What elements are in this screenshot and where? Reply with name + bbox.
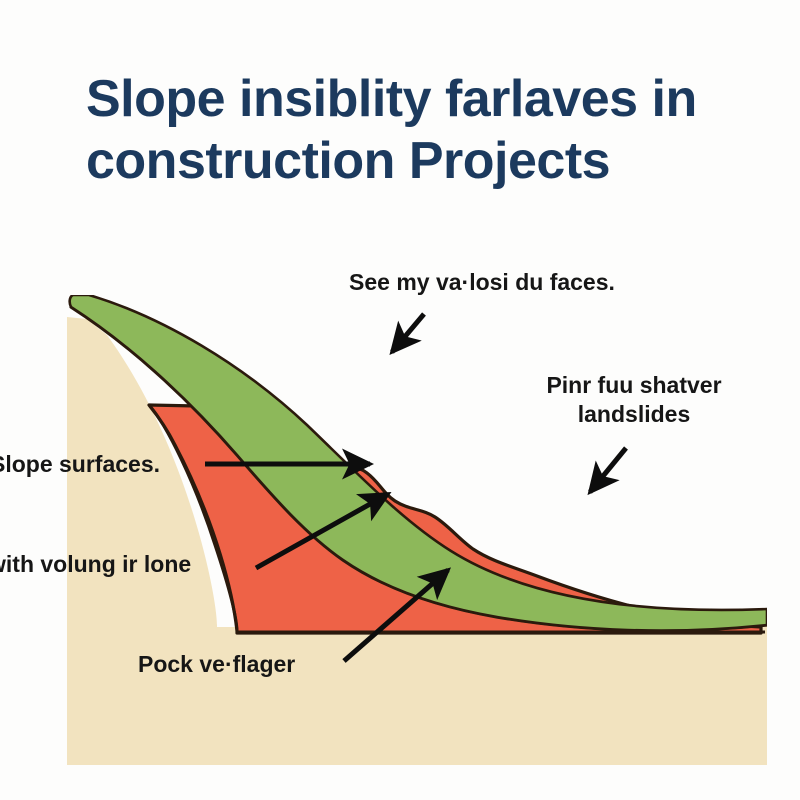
annotation-slope-surfaces-label: Slope surfaces. [0,450,160,479]
annotation-volume-zone-label: with volung ir lone [0,550,191,579]
annotation-rock-layer-label: Pock ve·flager [138,650,295,679]
slope-cross-section-diagram [67,295,767,765]
annotation-right-label: Pinr fuu shatver landslides [519,371,749,429]
annotation-right-line-2: landslides [519,400,749,429]
page-title-line-1: Slope insiblity farlaves in [86,68,726,130]
annotation-top-label: See my va·losi du faces. [349,268,615,297]
page-title: Slope insiblity farlaves in construction… [86,68,726,192]
illustration-page: Slope insiblity farlaves in construction… [0,0,800,800]
page-title-line-2: construction Projects [86,130,726,192]
annotation-right-line-1: Pinr fuu shatver [519,371,749,400]
slope-diagram-svg [67,295,767,765]
